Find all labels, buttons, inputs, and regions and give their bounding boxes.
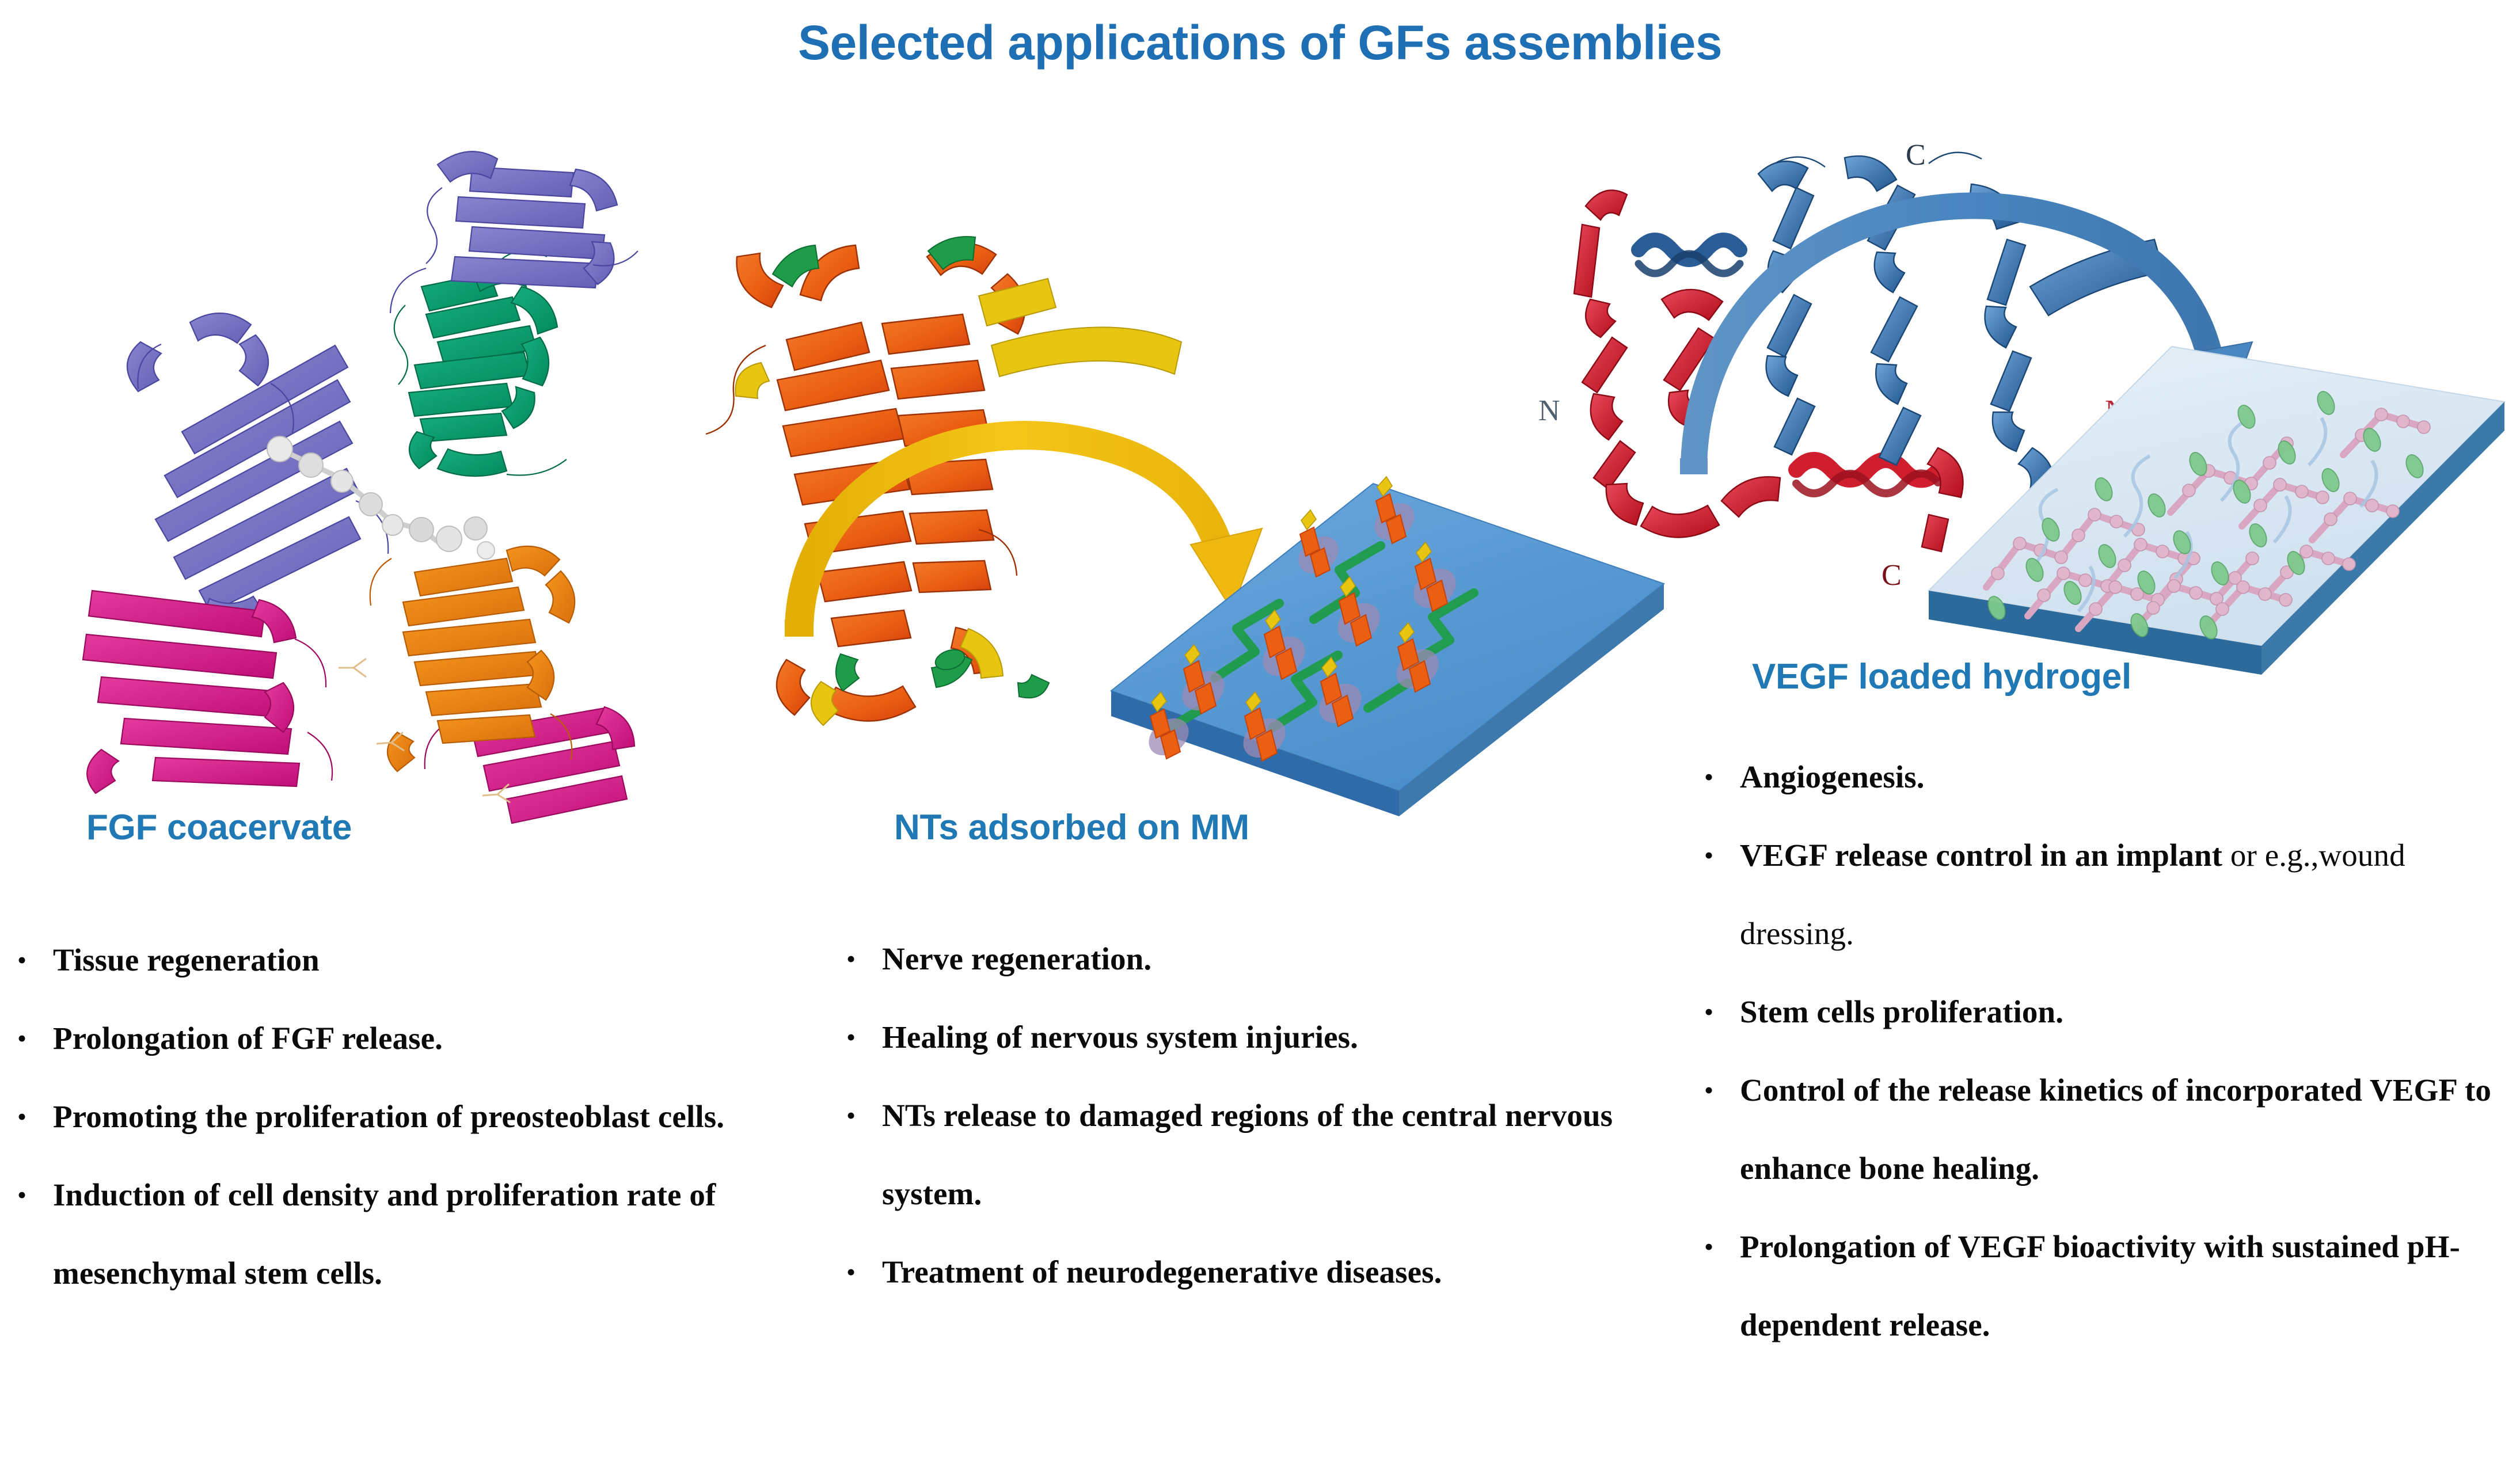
bullet-label: Nerve regeneration. [882, 920, 1641, 998]
list-item: • Control of the release kinetics of inc… [1704, 1051, 2520, 1208]
bullet-label: Control of the release kinetics of incor… [1740, 1051, 2520, 1208]
bullet-marker: • [1704, 973, 1740, 1051]
bullet-marker: • [1704, 1208, 1740, 1286]
list-item: • Induction of cell density and prolifer… [17, 1156, 748, 1313]
bullet-label: Angiogenesis. [1740, 738, 2520, 816]
bullet-label: NTs release to damaged regions of the ce… [882, 1076, 1641, 1233]
list-item: • Prolongation of FGF release. [17, 999, 748, 1078]
bullet-label: VEGF release control in an implant [1740, 838, 2222, 873]
fgf-coacervate-ribbon-diagram [69, 132, 731, 777]
bullet-label: Induction of cell density and proliferat… [53, 1156, 748, 1313]
bullet-label: Healing of nervous system injuries. [882, 998, 1641, 1076]
bullet-label: Stem cells proliferation. [1740, 973, 2520, 1051]
bullet-marker: • [1704, 738, 1740, 816]
bullet-label: Prolongation of FGF release. [53, 999, 748, 1078]
list-item: • Prolongation of VEGF bioactivity with … [1704, 1208, 2520, 1364]
list-item: • Tissue regeneration [17, 921, 748, 999]
vegf-loaded-hydrogel-diagram: C N N C [1526, 132, 2516, 604]
bullet-marker: • [17, 999, 53, 1078]
column-heading-vegf: VEGF loaded hydrogel [1752, 656, 2131, 697]
terminus-label-n-left: N [1538, 394, 1560, 427]
fgf-domain-purple-lower [127, 313, 388, 626]
list-item: • Angiogenesis. [1704, 738, 2520, 816]
bullet-marker: • [846, 1076, 882, 1155]
list-item: • VEGF release control in an implant or … [1704, 816, 2520, 973]
bullet-label: Promoting the proliferation of preosteob… [53, 1078, 748, 1156]
list-item: • Stem cells proliferation. [1704, 973, 2520, 1051]
bullet-label: Treatment of neurodegenerative diseases. [882, 1233, 1641, 1311]
bullet-marker: • [17, 1078, 53, 1156]
list-item: • Healing of nervous system injuries. [846, 998, 1641, 1076]
column-heading-nts: NTs adsorbed on MM [894, 807, 1249, 848]
bullet-marker: • [1704, 1051, 1740, 1129]
bullet-label-mixed: VEGF release control in an implant or e.… [1740, 816, 2520, 973]
bullet-marker: • [1704, 816, 1740, 895]
list-item: • Nerve regeneration. [846, 920, 1641, 998]
figure-canvas: Selected applications of GFs assemblies [0, 0, 2520, 1457]
terminus-label-c-top: C [1906, 139, 1926, 172]
bullet-marker: • [846, 1233, 882, 1311]
bullet-list-fgf: • Tissue regeneration • Prolongation of … [17, 921, 748, 1313]
list-item: • NTs release to damaged regions of the … [846, 1076, 1641, 1233]
page-title: Selected applications of GFs assemblies [0, 15, 2520, 71]
bullet-marker: • [17, 921, 53, 999]
column-heading-fgf: FGF coacervate [86, 807, 352, 848]
bullet-list-vegf: • Angiogenesis. • VEGF release control i… [1704, 738, 2520, 1364]
bullet-label: Tissue regeneration [53, 921, 748, 999]
terminus-label-c-bottom: C [1882, 559, 1902, 592]
bullet-label: Prolongation of VEGF bioactivity with su… [1740, 1208, 2520, 1364]
bullet-marker: • [846, 998, 882, 1076]
list-item: • Treatment of neurodegenerative disease… [846, 1233, 1641, 1311]
fgf-domain-magenta [83, 591, 332, 793]
list-item: • Promoting the proliferation of preoste… [17, 1078, 748, 1156]
bullet-marker: • [17, 1156, 53, 1234]
bullet-list-nts: • Nerve regeneration. • Healing of nervo… [846, 920, 1641, 1311]
bullet-marker: • [846, 920, 882, 998]
